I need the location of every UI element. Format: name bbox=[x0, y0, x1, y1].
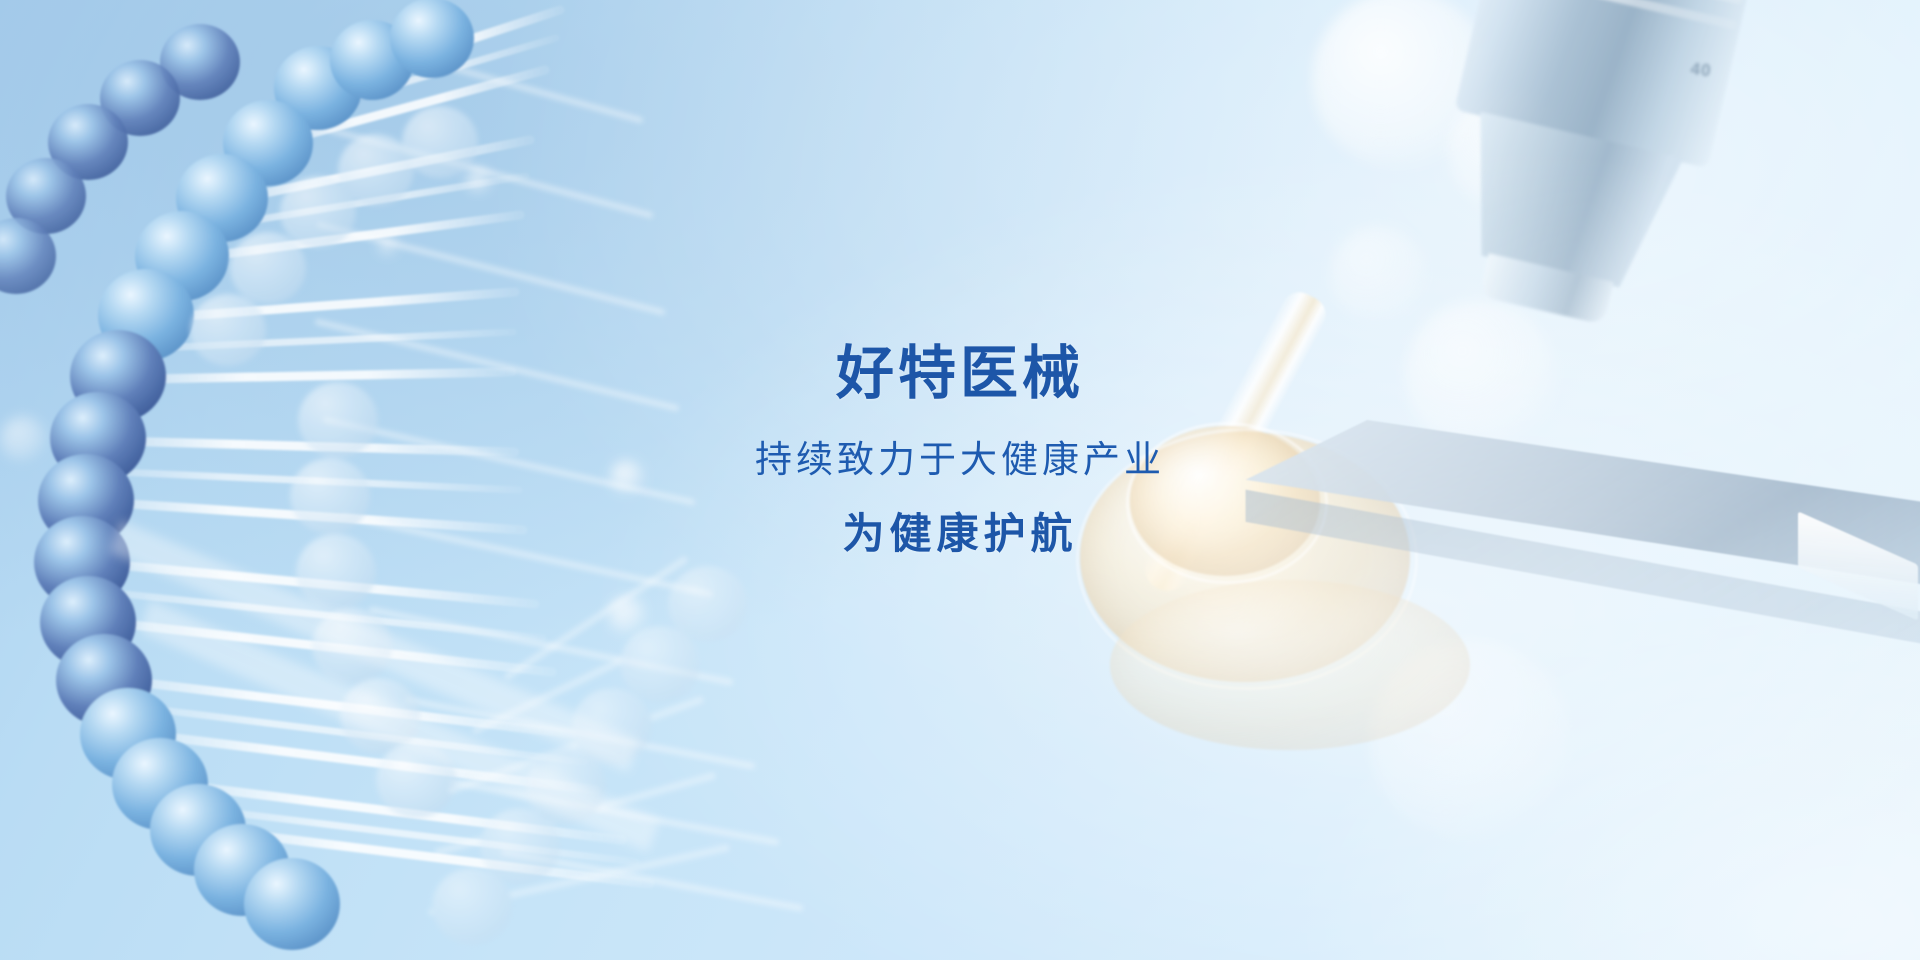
microscope-stage bbox=[1200, 420, 1920, 850]
objective-magnification-label: 40 bbox=[1689, 59, 1712, 81]
objective-ring-2 bbox=[1490, 0, 1738, 30]
hero-banner: 40 好特医械 持续致力于大健康产业 为健康护航 bbox=[0, 0, 1920, 960]
